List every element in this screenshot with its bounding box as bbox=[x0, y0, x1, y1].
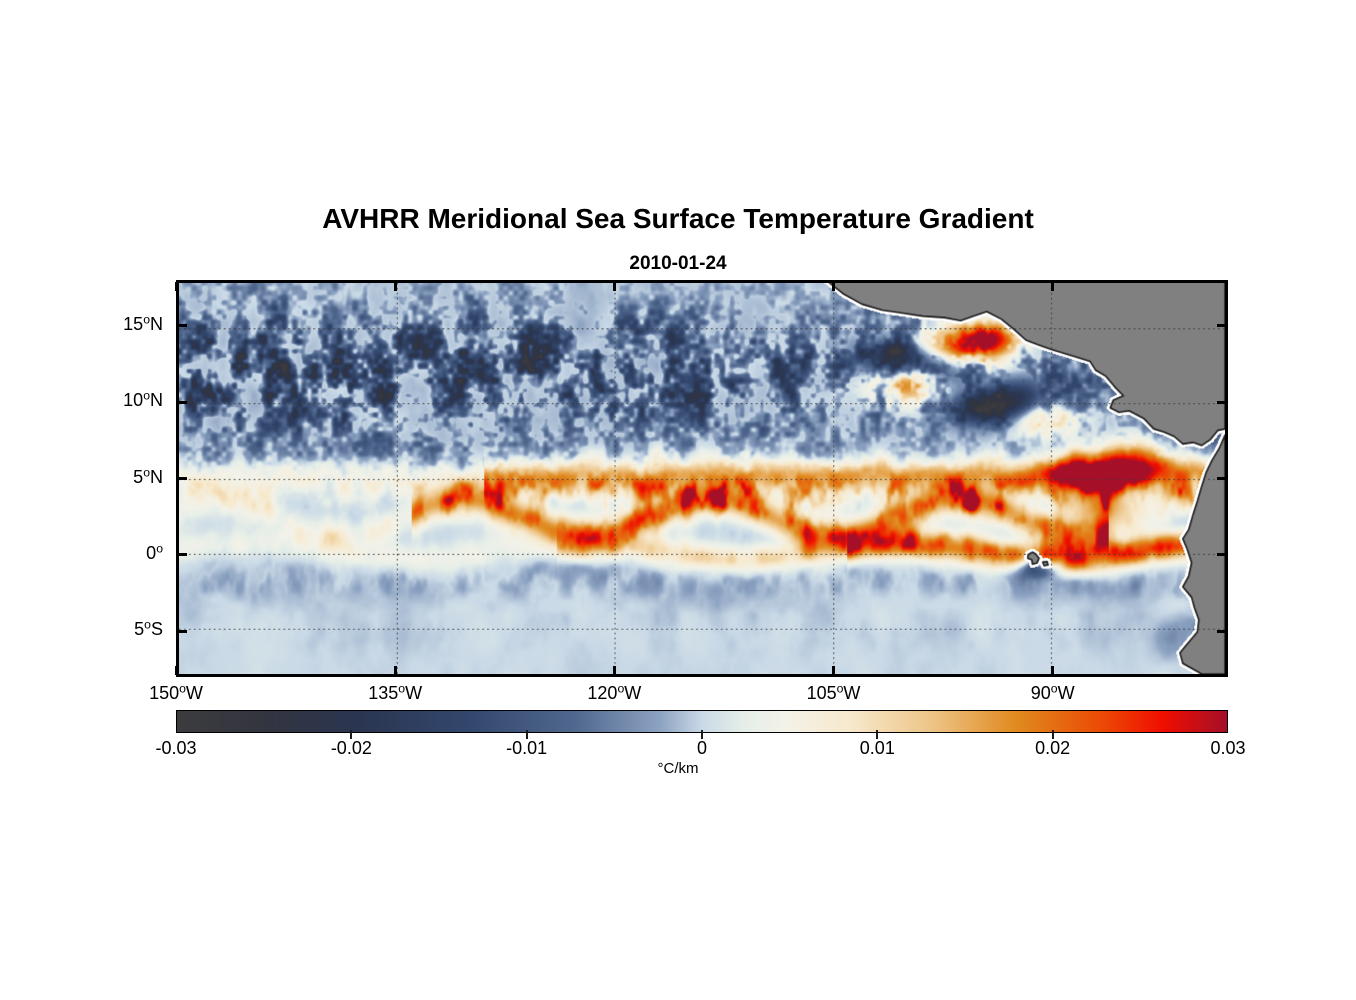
page-title: AVHRR Meridional Sea Surface Temperature… bbox=[0, 203, 1356, 235]
y-axis-tick-label: 10oN bbox=[43, 390, 163, 411]
colorbar-tick-label: 0.03 bbox=[1168, 738, 1288, 759]
x-tick bbox=[394, 282, 397, 291]
colorbar-gradient bbox=[177, 711, 1227, 732]
colorbar-tick-label: -0.02 bbox=[291, 738, 411, 759]
x-axis-tick-label: 120oW bbox=[544, 683, 684, 704]
colorbar-tick-label: -0.03 bbox=[116, 738, 236, 759]
x-tick bbox=[613, 666, 616, 675]
y-tick bbox=[1217, 553, 1226, 556]
y-tick bbox=[178, 324, 187, 327]
y-axis-tick-label: 15oN bbox=[43, 314, 163, 335]
y-tick bbox=[1217, 630, 1226, 633]
x-tick bbox=[832, 282, 835, 291]
colorbar-tick-label: 0.02 bbox=[993, 738, 1113, 759]
y-tick bbox=[1217, 324, 1226, 327]
y-tick bbox=[1217, 401, 1226, 404]
x-axis-tick-label: 105oW bbox=[764, 683, 904, 704]
colorbar-tick-label: 0.01 bbox=[817, 738, 937, 759]
x-tick bbox=[175, 282, 178, 291]
y-axis-tick-label: 5oS bbox=[43, 619, 163, 640]
x-tick bbox=[1051, 666, 1054, 675]
x-axis-tick-label: 135oW bbox=[325, 683, 465, 704]
y-tick bbox=[178, 553, 187, 556]
colorbar-tick-label: -0.01 bbox=[467, 738, 587, 759]
y-tick bbox=[178, 477, 187, 480]
x-tick bbox=[1051, 282, 1054, 291]
x-axis-tick-label: 90oW bbox=[983, 683, 1123, 704]
colorbar-unit-label: °C/km bbox=[0, 760, 1356, 777]
y-axis-tick-label: 5oN bbox=[43, 467, 163, 488]
x-tick bbox=[832, 666, 835, 675]
y-tick bbox=[178, 401, 187, 404]
colorbar-tick-label: 0 bbox=[642, 738, 762, 759]
y-tick bbox=[1217, 477, 1226, 480]
y-axis-tick-label: 0o bbox=[43, 543, 163, 564]
x-tick bbox=[394, 666, 397, 675]
x-axis-tick-label: 150oW bbox=[106, 683, 246, 704]
x-tick bbox=[613, 282, 616, 291]
map-plot-area[interactable] bbox=[176, 280, 1228, 677]
graticule-gridlines bbox=[179, 283, 1225, 674]
y-tick bbox=[178, 630, 187, 633]
x-tick bbox=[175, 666, 178, 675]
chart-subtitle-date: 2010-01-24 bbox=[0, 253, 1356, 275]
